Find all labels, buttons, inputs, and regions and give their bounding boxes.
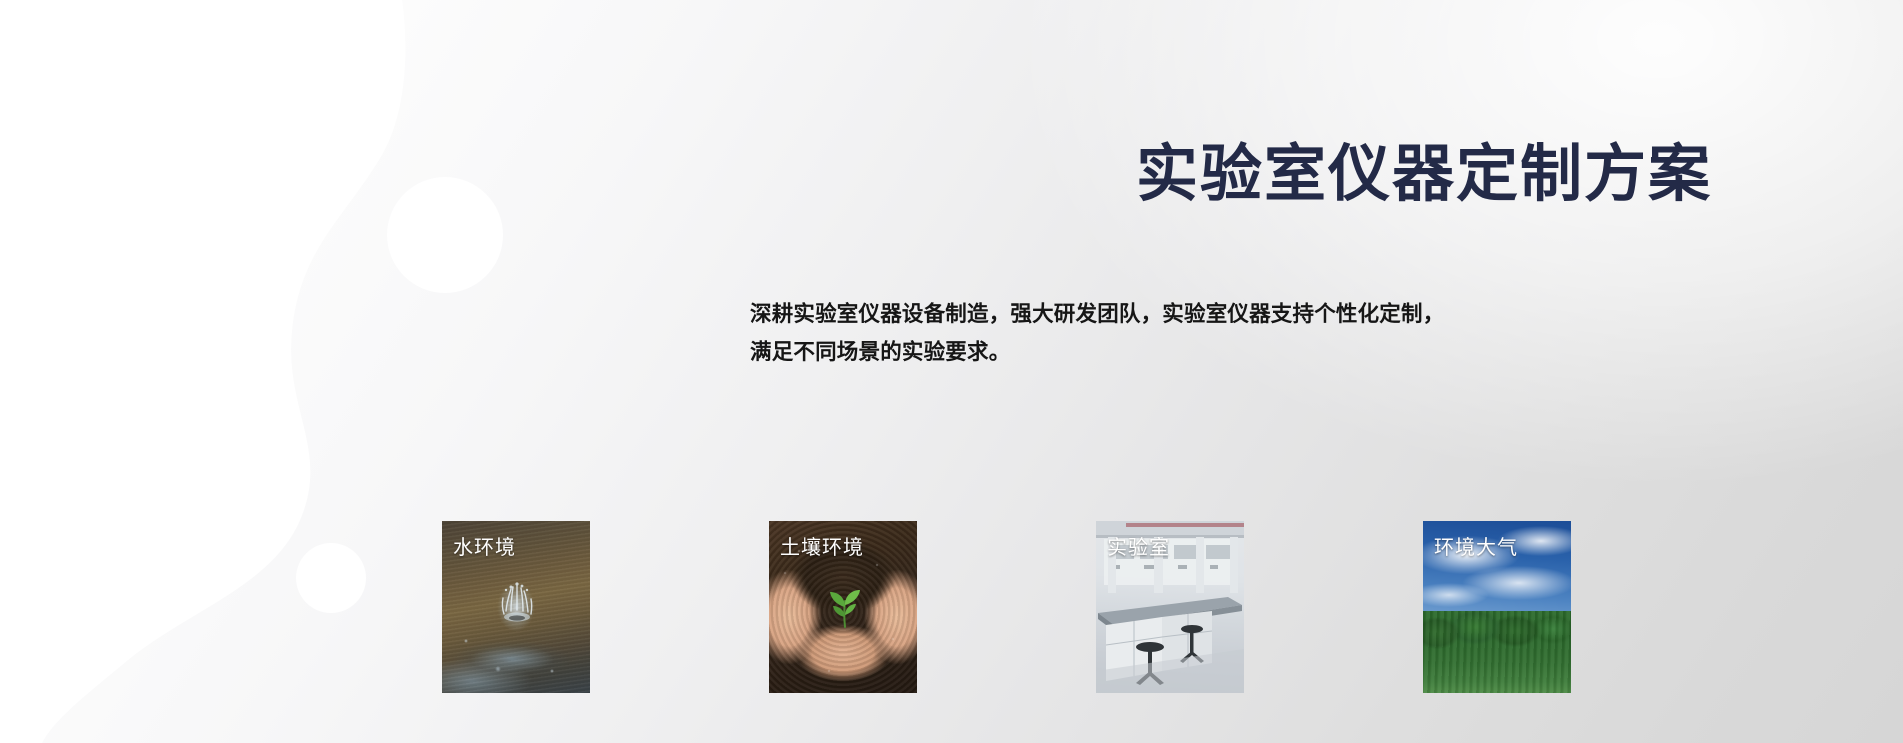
category-card-label: 环境大气 <box>1434 531 1518 560</box>
hero-banner: 实验室仪器定制方案 深耕实验室仪器设备制造，强大研发团队，实验室仪器支持个性化定… <box>0 0 1903 743</box>
forest-treeline <box>1423 611 1571 693</box>
category-card-label: 水环境 <box>453 531 516 560</box>
subtitle-line-2: 满足不同场景的实验要求。 <box>750 334 1718 372</box>
category-card-laboratory[interactable]: 实验室 <box>1096 521 1244 693</box>
page-title: 实验室仪器定制方案 <box>700 140 1712 209</box>
category-card-label: 土壤环境 <box>780 531 864 560</box>
decorative-circle-small <box>296 543 366 613</box>
category-card-label: 实验室 <box>1107 531 1170 560</box>
category-card-atmosphere[interactable]: 环境大气 <box>1423 521 1571 693</box>
decorative-circle-large <box>387 177 503 293</box>
category-card-soil[interactable]: 土壤环境 <box>769 521 917 693</box>
page-subtitle: 深耕实验室仪器设备制造，强大研发团队，实验室仪器支持个性化定制， 满足不同场景的… <box>750 296 1718 371</box>
category-card-water[interactable]: 水环境 <box>442 521 590 693</box>
green-sprout-icon <box>821 583 869 629</box>
category-card-list: 水环境 土壤环境 <box>442 521 1712 693</box>
water-crown-splash-icon <box>500 581 534 631</box>
subtitle-line-1: 深耕实验室仪器设备制造，强大研发团队，实验室仪器支持个性化定制， <box>750 296 1718 334</box>
